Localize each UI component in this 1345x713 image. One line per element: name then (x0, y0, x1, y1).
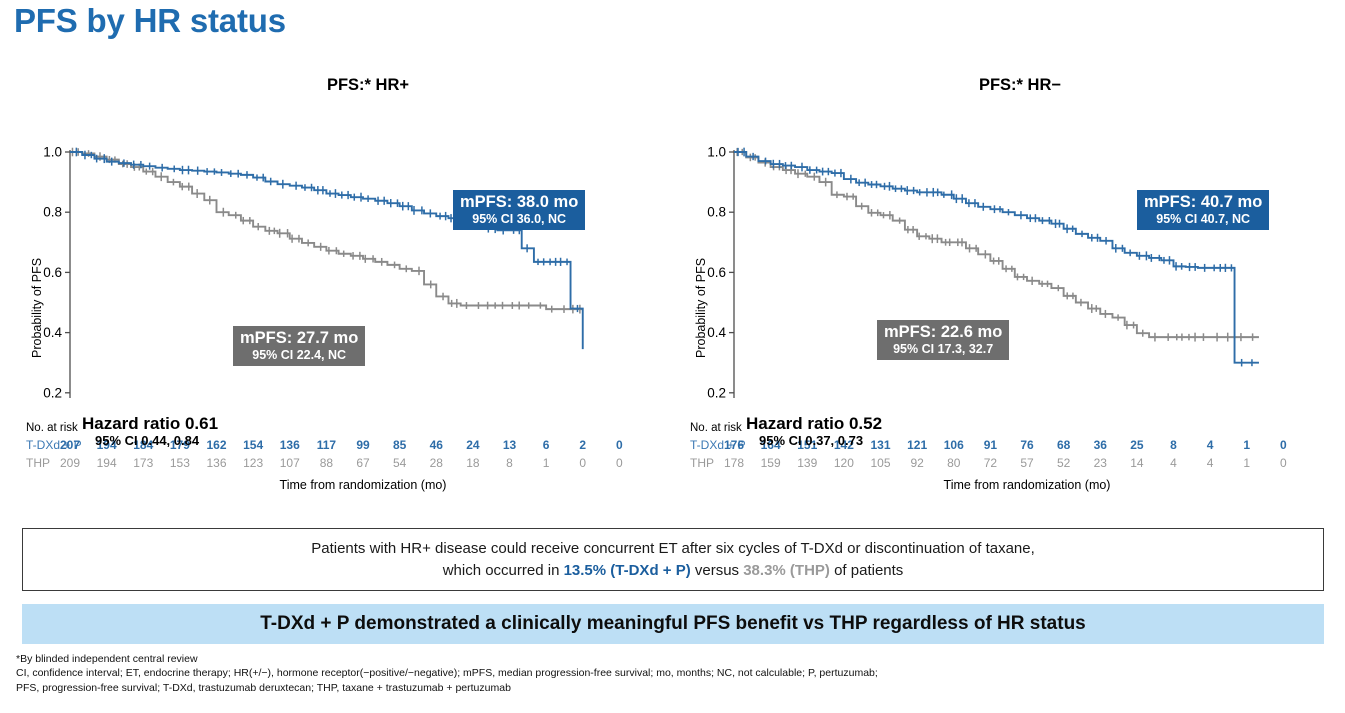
svg-text:0.6: 0.6 (707, 265, 726, 280)
risk-value: 176 (721, 438, 747, 452)
et-note-versus: versus (691, 562, 744, 579)
y-axis-label: Probability of PFS (30, 258, 44, 358)
risk-value: 136 (277, 438, 303, 452)
risk-value: 178 (721, 456, 747, 470)
risk-table-label: No. at risk (26, 422, 78, 434)
risk-value: 6 (533, 438, 559, 452)
risk-value: 25 (1124, 438, 1150, 452)
hazard-ratio-value: Hazard ratio 0.52 (746, 414, 882, 434)
mpfs-value: mPFS: 38.0 mo (460, 193, 578, 212)
risk-value: 0 (1270, 456, 1296, 470)
risk-value: 99 (350, 438, 376, 452)
mpfs-value: mPFS: 27.7 mo (240, 329, 358, 348)
mpfs-ci: 95% CI 22.4, NC (240, 348, 358, 362)
risk-value: 85 (387, 438, 413, 452)
conclusion-banner: T-DXd + P demonstrated a clinically mean… (22, 604, 1324, 644)
x-axis-label: Time from randomization (mo) (734, 478, 1320, 492)
risk-value: 91 (977, 438, 1003, 452)
risk-table-label: No. at risk (690, 422, 742, 434)
page-title: PFS by HR status (14, 2, 286, 40)
svg-text:1.0: 1.0 (707, 145, 726, 160)
et-note-prefix: which occurred in (443, 562, 564, 579)
risk-value: 28 (423, 456, 449, 470)
risk-value: 207 (57, 438, 83, 452)
risk-value: 153 (167, 456, 193, 470)
risk-value: 0 (1270, 438, 1296, 452)
risk-value: 68 (1051, 438, 1077, 452)
hazard-ratio-block: Hazard ratio 0.6195% CI 0.44, 0.84 (82, 414, 218, 448)
risk-value: 52 (1051, 456, 1077, 470)
risk-row-label: THP (690, 456, 714, 470)
risk-value: 72 (977, 456, 1003, 470)
risk-value: 159 (758, 456, 784, 470)
mpfs-box-thp: mPFS: 22.6 mo95% CI 17.3, 32.7 (877, 320, 1009, 360)
risk-value: 88 (313, 456, 339, 470)
risk-value: 24 (460, 438, 486, 452)
et-note-suffix: of patients (830, 562, 903, 579)
footnote-line-1: *By blinded independent central review (16, 652, 1336, 666)
risk-value: 23 (1087, 456, 1113, 470)
svg-text:0.4: 0.4 (707, 325, 726, 340)
risk-value: 194 (94, 456, 120, 470)
chart-title-hr-negative: PFS:* HR− (672, 76, 1332, 95)
risk-value: 36 (1087, 438, 1113, 452)
risk-value: 107 (277, 456, 303, 470)
risk-value: 54 (387, 456, 413, 470)
et-note-line-1: Patients with HR+ disease could receive … (311, 538, 1035, 560)
risk-value: 8 (1161, 438, 1187, 452)
risk-value: 1 (533, 456, 559, 470)
chart-panel-hr-positive: PFS:* HR+ 1.00.80.60.40.2003691215182124… (8, 70, 668, 515)
conclusion-text: T-DXd + P demonstrated a clinically mean… (260, 613, 1086, 635)
risk-value: 0 (570, 456, 596, 470)
km-series-thp (734, 148, 1259, 342)
risk-value: 117 (313, 438, 339, 452)
mpfs-ci: 95% CI 36.0, NC (460, 212, 578, 226)
risk-value: 173 (130, 456, 156, 470)
mpfs-box-tdxd-p: mPFS: 38.0 mo95% CI 36.0, NC (453, 190, 585, 230)
risk-value: 14 (1124, 456, 1150, 470)
risk-value: 1 (1234, 438, 1260, 452)
svg-text:0.2: 0.2 (43, 385, 62, 398)
mpfs-value: mPFS: 22.6 mo (884, 323, 1002, 342)
chart-panel-hr-negative: PFS:* HR− 1.00.80.60.40.2003691215182124… (672, 70, 1332, 515)
risk-value: 76 (1014, 438, 1040, 452)
risk-value: 0 (606, 438, 632, 452)
risk-value: 80 (941, 456, 967, 470)
risk-value: 1 (1234, 456, 1260, 470)
risk-value: 4 (1197, 438, 1223, 452)
mpfs-ci: 95% CI 17.3, 32.7 (884, 342, 1002, 356)
hazard-ratio-ci: 95% CI 0.37, 0.73 (759, 433, 882, 448)
risk-value: 2 (570, 438, 596, 452)
risk-value: 67 (350, 456, 376, 470)
risk-row-thp: THP178159139120105928072575223144410 (672, 456, 1332, 473)
footnotes: *By blinded independent central review C… (16, 652, 1336, 695)
risk-value: 120 (831, 456, 857, 470)
risk-value: 4 (1161, 456, 1187, 470)
footnote-line-3: PFS, progression-free survival; T-DXd, t… (16, 681, 1336, 695)
risk-row-label: THP (26, 456, 50, 470)
et-note-tdxd-value: 13.5% (T-DXd + P) (564, 562, 691, 579)
mpfs-value: mPFS: 40.7 mo (1144, 193, 1262, 212)
risk-value: 57 (1014, 456, 1040, 470)
risk-value: 105 (868, 456, 894, 470)
chart-title-hr-positive: PFS:* HR+ (8, 76, 668, 95)
risk-value: 18 (460, 456, 486, 470)
mpfs-box-thp: mPFS: 27.7 mo95% CI 22.4, NC (233, 326, 365, 366)
risk-row-thp: THP20919417315313612310788675428188100 (8, 456, 668, 473)
risk-value: 13 (497, 438, 523, 452)
risk-value: 8 (497, 456, 523, 470)
hazard-ratio-ci: 95% CI 0.44, 0.84 (95, 433, 218, 448)
y-axis-label: Probability of PFS (694, 258, 708, 358)
risk-value: 154 (240, 438, 266, 452)
risk-value: 123 (240, 456, 266, 470)
footnote-line-2: CI, confidence interval; ET, endocrine t… (16, 666, 1336, 680)
x-axis-label: Time from randomization (mo) (70, 478, 656, 492)
svg-text:0.8: 0.8 (43, 205, 62, 220)
risk-value: 46 (423, 438, 449, 452)
hazard-ratio-block: Hazard ratio 0.5295% CI 0.37, 0.73 (746, 414, 882, 448)
risk-value: 4 (1197, 456, 1223, 470)
svg-text:0.8: 0.8 (707, 205, 726, 220)
et-note-box: Patients with HR+ disease could receive … (22, 528, 1324, 591)
svg-text:0.6: 0.6 (43, 265, 62, 280)
risk-value: 209 (57, 456, 83, 470)
svg-text:0.2: 0.2 (707, 385, 726, 398)
svg-text:1.0: 1.0 (43, 145, 62, 160)
risk-value: 121 (904, 438, 930, 452)
et-note-thp-value: 38.3% (THP) (743, 562, 830, 579)
risk-value: 92 (904, 456, 930, 470)
mpfs-box-tdxd-p: mPFS: 40.7 mo95% CI 40.7, NC (1137, 190, 1269, 230)
risk-value: 106 (941, 438, 967, 452)
risk-value: 139 (794, 456, 820, 470)
risk-value: 136 (204, 456, 230, 470)
et-note-line-2: which occurred in 13.5% (T-DXd + P) vers… (443, 560, 904, 582)
mpfs-ci: 95% CI 40.7, NC (1144, 212, 1262, 226)
svg-text:0.4: 0.4 (43, 325, 62, 340)
risk-value: 0 (606, 456, 632, 470)
hazard-ratio-value: Hazard ratio 0.61 (82, 414, 218, 434)
